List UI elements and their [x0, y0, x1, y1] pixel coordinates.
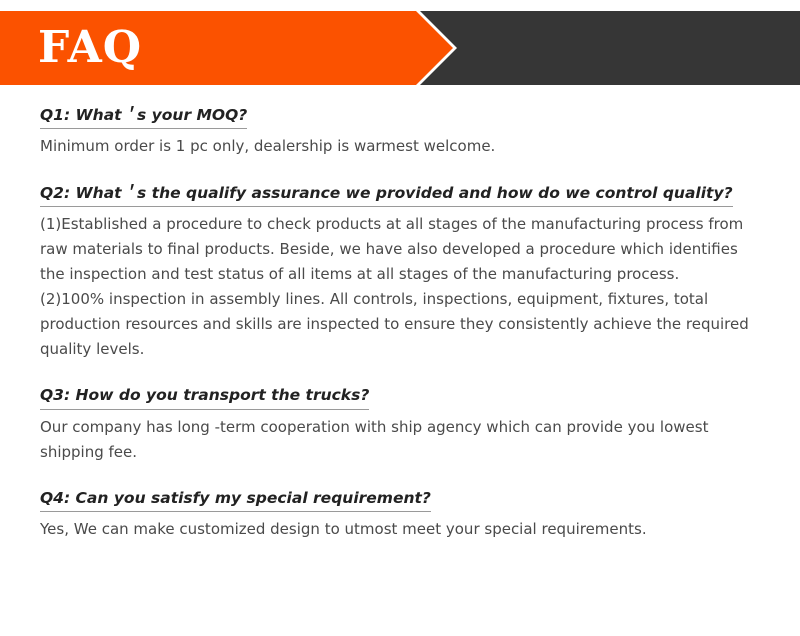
faq-answer-1: Minimum order is 1 pc only, dealership i… [40, 134, 752, 159]
faq-item-2: Q2: What＇s the qualify assurance we prov… [40, 182, 760, 363]
faq-header-banner: FAQ [0, 11, 800, 85]
faq-question-1: Q1: What＇s your MOQ? [40, 104, 247, 129]
faq-list: Q1: What＇s your MOQ? Minimum order is 1 … [40, 104, 760, 542]
faq-item-3: Q3: How do you transport the trucks? Our… [40, 384, 760, 465]
faq-answer-2-paragraph-1: (1)Established a procedure to check prod… [40, 212, 752, 287]
faq-answer-4: Yes, We can make customized design to ut… [40, 517, 752, 542]
faq-question-2: Q2: What＇s the qualify assurance we prov… [40, 182, 733, 207]
faq-answer-2: (1)Established a procedure to check prod… [40, 212, 752, 362]
faq-item-1: Q1: What＇s your MOQ? Minimum order is 1 … [40, 104, 760, 160]
faq-answer-3: Our company has long -term cooperation w… [40, 415, 752, 465]
faq-question-3: Q3: How do you transport the trucks? [40, 384, 369, 409]
faq-page: FAQ Q1: What＇s your MOQ? Minimum order i… [0, 0, 800, 636]
faq-answer-3-paragraph-1: Our company has long -term cooperation w… [40, 415, 752, 465]
faq-item-4: Q4: Can you satisfy my special requireme… [40, 487, 760, 543]
faq-answer-4-paragraph-1: Yes, We can make customized design to ut… [40, 517, 752, 542]
faq-answer-2-paragraph-2: (2)100% inspection in assembly lines. Al… [40, 287, 752, 362]
faq-answer-1-paragraph-1: Minimum order is 1 pc only, dealership i… [40, 134, 752, 159]
page-title: FAQ [38, 26, 142, 70]
faq-question-4: Q4: Can you satisfy my special requireme… [40, 487, 431, 512]
